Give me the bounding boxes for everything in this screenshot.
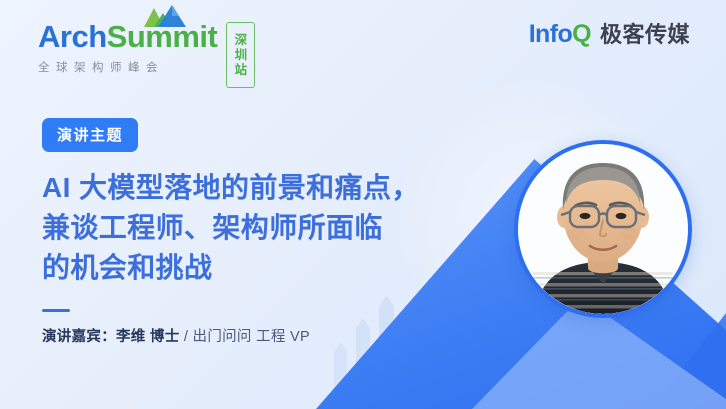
talk-title-line: AI 大模型落地的前景和痛点，	[42, 168, 512, 208]
slide-header: ArchSummit 全球架构师峰会 深 圳 站 InfoQ 极客传媒	[0, 0, 726, 100]
speaker-portrait	[514, 140, 692, 318]
mountain-icon	[132, 3, 188, 27]
talk-title: AI 大模型落地的前景和痛点， 兼谈工程师、架构师所面临 的机会和挑战	[42, 168, 512, 287]
city-char-3: 站	[235, 63, 248, 77]
speaker-name: 演讲嘉宾：李维 博士	[42, 329, 180, 345]
speaker-affiliation: / 出门问问 工程 VP	[180, 329, 310, 345]
archsummit-wordmark: ArchSummit	[38, 21, 217, 52]
archsummit-logo: ArchSummit 全球架构师峰会 深 圳 站	[38, 21, 255, 88]
pillar-shape	[475, 343, 488, 409]
talk-title-line: 兼谈工程师、架构师所面临	[42, 208, 512, 248]
city-char-1: 深	[235, 33, 248, 47]
title-divider	[42, 309, 70, 312]
pillar-shape	[334, 351, 347, 409]
infoq-word-info: Info	[529, 20, 572, 48]
portrait-illustration	[518, 144, 688, 314]
city-badge-shenzhen: 深 圳 站	[226, 22, 255, 88]
archsummit-wordmark-group: ArchSummit 全球架构师峰会	[38, 21, 217, 75]
archsummit-word-arch: Arch	[38, 19, 107, 54]
speaker-info: 演讲嘉宾：李维 博士 / 出门问问 工程 VP	[42, 325, 512, 346]
presentation-slide: ArchSummit 全球架构师峰会 深 圳 站 InfoQ 极客传媒	[0, 0, 726, 409]
topic-badge: 演讲主题	[42, 118, 138, 152]
slide-content: 演讲主题 AI 大模型落地的前景和痛点， 兼谈工程师、架构师所面临 的机会和挑战…	[42, 118, 512, 346]
infoq-wordmark: InfoQ	[529, 22, 591, 47]
city-char-2: 圳	[235, 48, 248, 62]
talk-title-line: 的机会和挑战	[42, 248, 512, 288]
infoq-chinese-name: 极客传媒	[600, 24, 690, 46]
speaker-portrait-image	[518, 144, 688, 314]
mountain-shape-edge	[652, 313, 726, 409]
infoq-word-q: Q	[572, 20, 591, 48]
archsummit-subtitle: 全球架构师峰会	[38, 59, 217, 75]
infoq-logo: InfoQ 极客传媒	[529, 22, 690, 47]
